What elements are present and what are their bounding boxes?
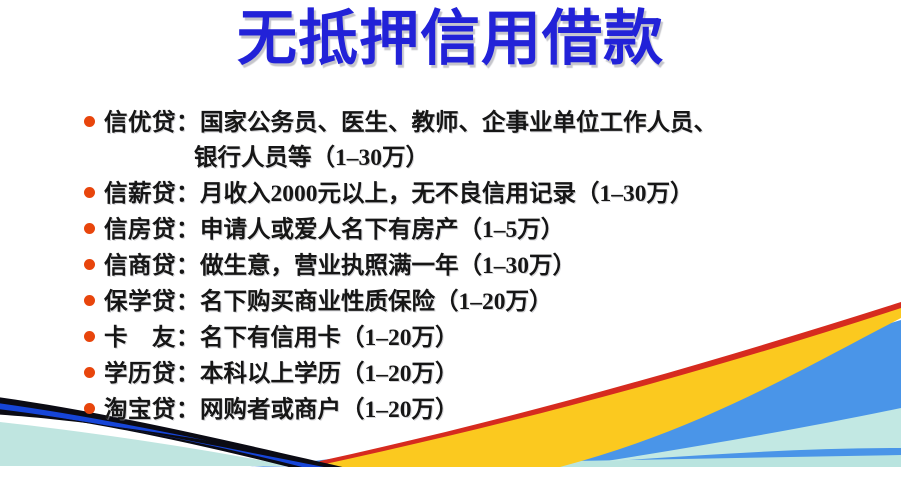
list-item-text: 信房贷：申请人或爱人名下有房产（1–5万） <box>104 213 884 248</box>
list-item-desc: 做生意，营业执照满一年（1–30万） <box>200 253 576 279</box>
list-item-label: 信优贷： <box>104 110 200 136</box>
list-item-text: 学历贷：本科以上学历（1–20万） <box>104 357 884 392</box>
bullet-dot-icon <box>84 295 95 306</box>
bullet-cell <box>84 177 104 207</box>
list-item-label: 保学贷： <box>104 289 200 315</box>
list-item[interactable]: 信商贷：做生意，营业执照满一年（1–30万） <box>84 249 884 284</box>
list-item[interactable]: 信优贷：国家公务员、医生、教师、企事业单位工作人员、 银行人员等（1–30万） <box>84 106 884 176</box>
list-item-desc: 申请人或爱人名下有房产（1–5万） <box>200 217 564 243</box>
list-item[interactable]: 保学贷：名下购买商业性质保险（1–20万） <box>84 285 884 320</box>
list-item-text: 信商贷：做生意，营业执照满一年（1–30万） <box>104 249 884 284</box>
list-item-line: 信薪贷：月收入2000元以上，无不良信用记录（1–30万） <box>104 177 884 212</box>
list-item[interactable]: 淘宝贷：网购者或商户（1–20万） <box>84 393 884 428</box>
list-item-label: 信商贷： <box>104 253 200 279</box>
list-item[interactable]: 信薪贷：月收入2000元以上，无不良信用记录（1–30万） <box>84 177 884 212</box>
list-item-text: 信薪贷：月收入2000元以上，无不良信用记录（1–30万） <box>104 177 884 212</box>
list-item-line: 信商贷：做生意，营业执照满一年（1–30万） <box>104 249 884 284</box>
list-item-desc: 国家公务员、医生、教师、企事业单位工作人员、 <box>200 110 717 136</box>
list-item-line: 学历贷：本科以上学历（1–20万） <box>104 357 884 392</box>
bullet-cell <box>84 249 104 279</box>
bullet-dot-icon <box>84 116 95 127</box>
list-item-label: 卡 友： <box>104 325 200 351</box>
list-item-text: 保学贷：名下购买商业性质保险（1–20万） <box>104 285 884 320</box>
bullet-cell <box>84 213 104 243</box>
list-item-desc: 网购者或商户（1–20万） <box>200 397 459 423</box>
list-item[interactable]: 信房贷：申请人或爱人名下有房产（1–5万） <box>84 213 884 248</box>
list-item[interactable]: 卡 友：名下有信用卡（1–20万） <box>84 321 884 356</box>
list-item-line: 信优贷：国家公务员、医生、教师、企事业单位工作人员、 <box>104 106 884 141</box>
bullet-dot-icon <box>84 259 95 270</box>
bullet-dot-icon <box>84 223 95 234</box>
bullet-cell <box>84 106 104 136</box>
list-item-text: 淘宝贷：网购者或商户（1–20万） <box>104 393 884 428</box>
list-item-text: 卡 友：名下有信用卡（1–20万） <box>104 321 884 356</box>
list-item-text: 信优贷：国家公务员、医生、教师、企事业单位工作人员、 银行人员等（1–30万） <box>104 106 884 176</box>
bullet-dot-icon <box>84 187 95 198</box>
bullet-cell <box>84 357 104 387</box>
list-item-label: 信薪贷： <box>104 181 200 207</box>
list-item-desc: 名下购买商业性质保险（1–20万） <box>200 289 553 315</box>
bullet-cell <box>84 321 104 351</box>
list-item-label: 学历贷： <box>104 361 200 387</box>
bullet-dot-icon <box>84 367 95 378</box>
bullet-cell <box>84 285 104 315</box>
list-item-desc: 本科以上学历（1–20万） <box>200 361 459 387</box>
list-item-line-continued: 银行人员等（1–30万） <box>104 141 884 176</box>
list-item-label: 信房贷： <box>104 217 200 243</box>
bullet-dot-icon <box>84 331 95 342</box>
list-item-label: 淘宝贷： <box>104 397 200 423</box>
poster-canvas: 无抵押信用借款 信优贷：国家公务员、医生、教师、企事业单位工作人员、 银行人员等… <box>0 0 901 487</box>
list-item-line: 信房贷：申请人或爱人名下有房产（1–5万） <box>104 213 884 248</box>
loan-product-list: 信优贷：国家公务员、医生、教师、企事业单位工作人员、 银行人员等（1–30万） … <box>84 106 884 429</box>
bullet-cell <box>84 393 104 423</box>
list-item-line: 保学贷：名下购买商业性质保险（1–20万） <box>104 285 884 320</box>
list-item-line: 淘宝贷：网购者或商户（1–20万） <box>104 393 884 428</box>
list-item[interactable]: 学历贷：本科以上学历（1–20万） <box>84 357 884 392</box>
list-item-desc: 名下有信用卡（1–20万） <box>200 325 459 351</box>
page-title: 无抵押信用借款 <box>0 8 901 71</box>
bottom-white-band <box>0 467 901 487</box>
list-item-desc: 月收入2000元以上，无不良信用记录（1–30万） <box>200 181 694 207</box>
list-item-line: 卡 友：名下有信用卡（1–20万） <box>104 321 884 356</box>
bullet-dot-icon <box>84 403 95 414</box>
